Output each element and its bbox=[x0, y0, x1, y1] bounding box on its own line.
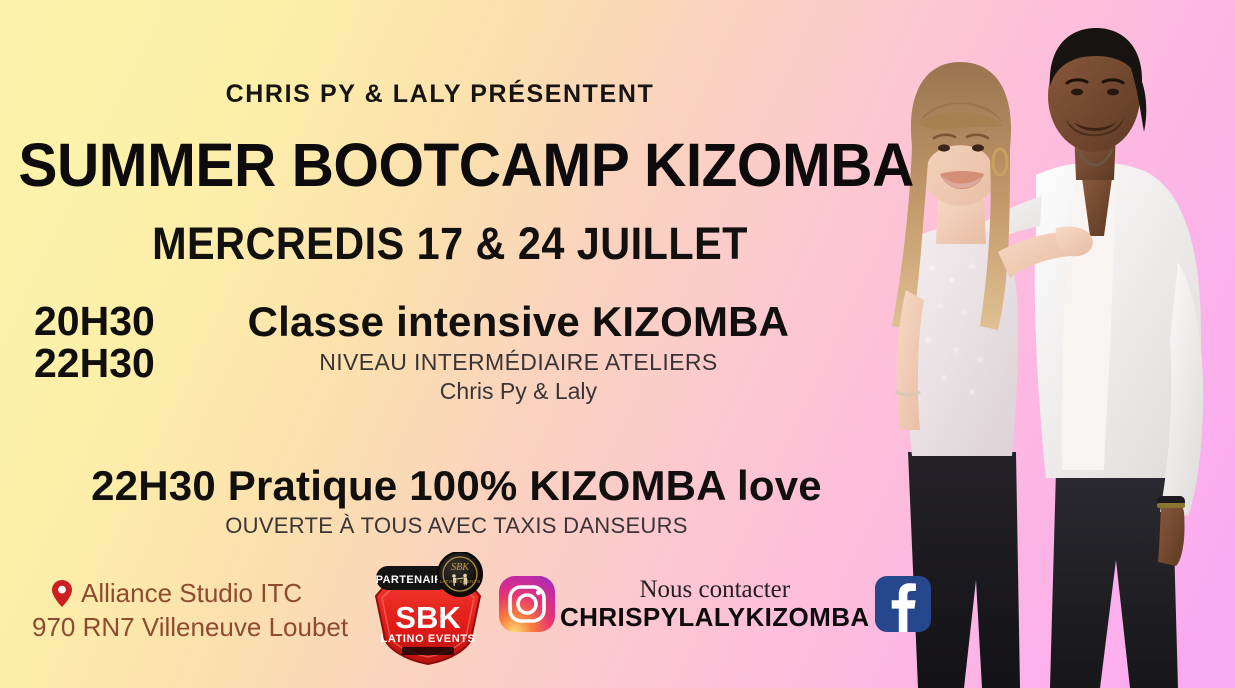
facebook-icon[interactable] bbox=[874, 575, 932, 633]
class-hours: 20H30 22H30 bbox=[34, 298, 155, 384]
class-hours-end: 22H30 bbox=[34, 342, 155, 384]
page-title: SUMMER BOOTCAMP KIZOMBA bbox=[18, 134, 901, 196]
practice-section: 22H30 Pratique 100% KIZOMBA love OUVERTE… bbox=[34, 462, 879, 539]
sbk-partner-logo: SBK LATINO EVENTS PARTENAIRE SBK LATINO … bbox=[368, 552, 488, 667]
presenter-line: CHRIS PY & LALY PRÉSENTENT bbox=[0, 80, 880, 109]
class-name: Classe intensive KIZOMBA bbox=[163, 298, 874, 345]
venue-street: 970 RN7 Villeneuve Loubet bbox=[30, 612, 380, 644]
venue-name-row: Alliance Studio ITC bbox=[30, 578, 380, 610]
class-level: NIVEAU INTERMÉDIAIRE ATELIERS bbox=[163, 349, 874, 376]
class-details: Classe intensive KIZOMBA NIVEAU INTERMÉD… bbox=[155, 298, 874, 405]
svg-text:SBK: SBK bbox=[451, 562, 470, 573]
practice-subtitle: OUVERTE À TOUS AVEC TAXIS DANSEURS bbox=[34, 513, 879, 539]
contact-text: Nous contacter CHRISPYLALYKIZOMBA bbox=[556, 577, 874, 632]
practice-headline: 22H30 Pratique 100% KIZOMBA love bbox=[34, 462, 879, 510]
sbk-tagline-text: LATINO EVENTS bbox=[381, 633, 476, 645]
contact-label: Nous contacter bbox=[560, 577, 870, 603]
sbk-brand-text: SBK bbox=[395, 600, 461, 635]
class-hours-start: 20H30 bbox=[34, 300, 155, 342]
event-dates: MERCREDIS 17 & 24 JUILLET bbox=[36, 218, 864, 270]
contact-section: Nous contacter CHRISPYLALYKIZOMBA bbox=[498, 568, 876, 640]
map-pin-icon bbox=[52, 580, 72, 607]
class-teachers: Chris Py & Laly bbox=[163, 378, 874, 405]
venue-name: Alliance Studio ITC bbox=[81, 578, 302, 610]
venue-address: Alliance Studio ITC 970 RN7 Villeneuve L… bbox=[30, 578, 380, 643]
social-handle: CHRISPYLALYKIZOMBA bbox=[560, 603, 870, 632]
svg-text:LATINO EVENTS: LATINO EVENTS bbox=[439, 579, 480, 584]
instagram-icon[interactable] bbox=[498, 575, 556, 633]
class-section: 20H30 22H30 Classe intensive KIZOMBA NIV… bbox=[34, 298, 874, 405]
event-flyer: CHRIS PY & LALY PRÉSENTENT SUMMER BOOTCA… bbox=[0, 0, 1235, 688]
